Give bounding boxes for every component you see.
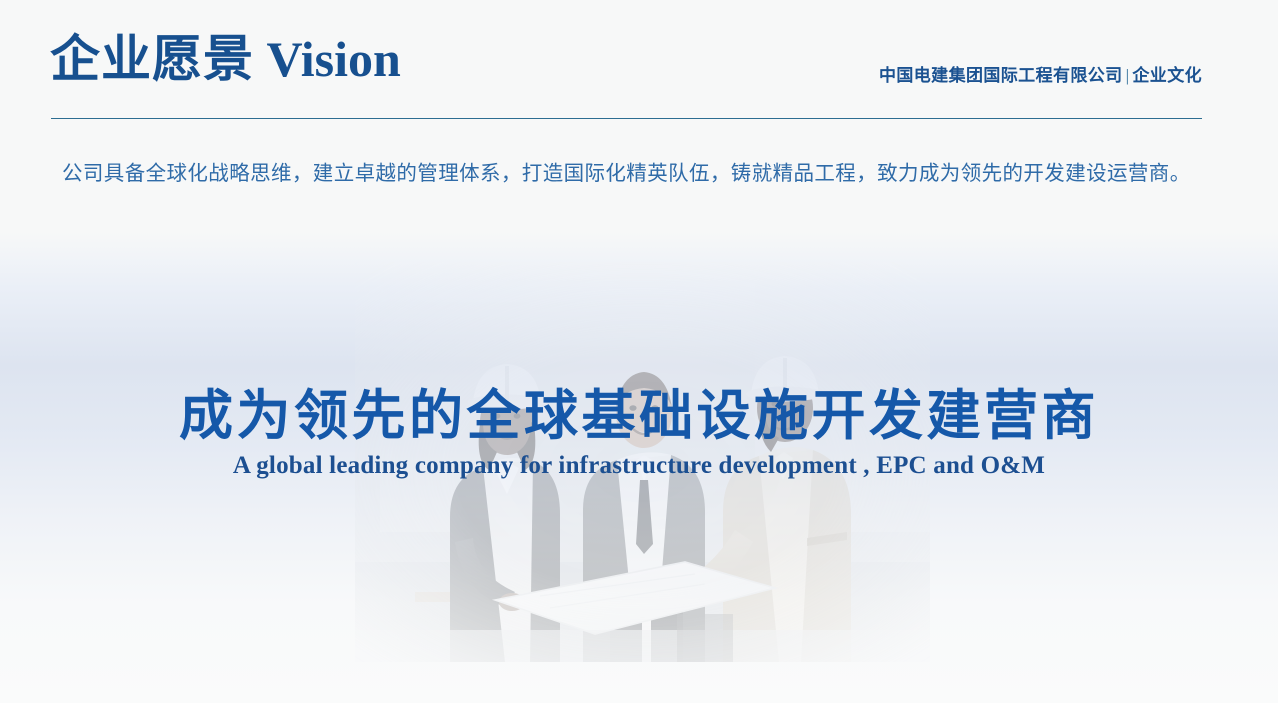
page-title: 企业愿景 Vision <box>50 34 401 84</box>
vision-slogan-en: A global leading company for infrastruct… <box>0 452 1278 480</box>
breadcrumb-section: 企业文化 <box>1132 66 1202 85</box>
vision-slogan-block: 成为领先的全球基础设施开发建营商 A global leading compan… <box>0 386 1278 480</box>
page-title-cn: 企业愿景 <box>50 31 254 87</box>
intro-paragraph: 公司具备全球化战略思维，建立卓越的管理体系，打造国际化精英队伍，铸就精品工程，致… <box>62 157 1202 192</box>
header-divider <box>51 118 1202 119</box>
page-title-en <box>254 31 267 87</box>
vision-slogan-cn: 成为领先的全球基础设施开发建营商 <box>0 386 1278 446</box>
breadcrumb: 中国电建集团国际工程有限公司|企业文化 <box>879 61 1202 86</box>
page-title-en-text: Vision <box>267 31 401 87</box>
breadcrumb-separator: | <box>1123 66 1133 85</box>
slide-root: 企业愿景 Vision 中国电建集团国际工程有限公司|企业文化 公司具备全球化战… <box>0 0 1278 703</box>
breadcrumb-company: 中国电建集团国际工程有限公司 <box>879 66 1123 85</box>
